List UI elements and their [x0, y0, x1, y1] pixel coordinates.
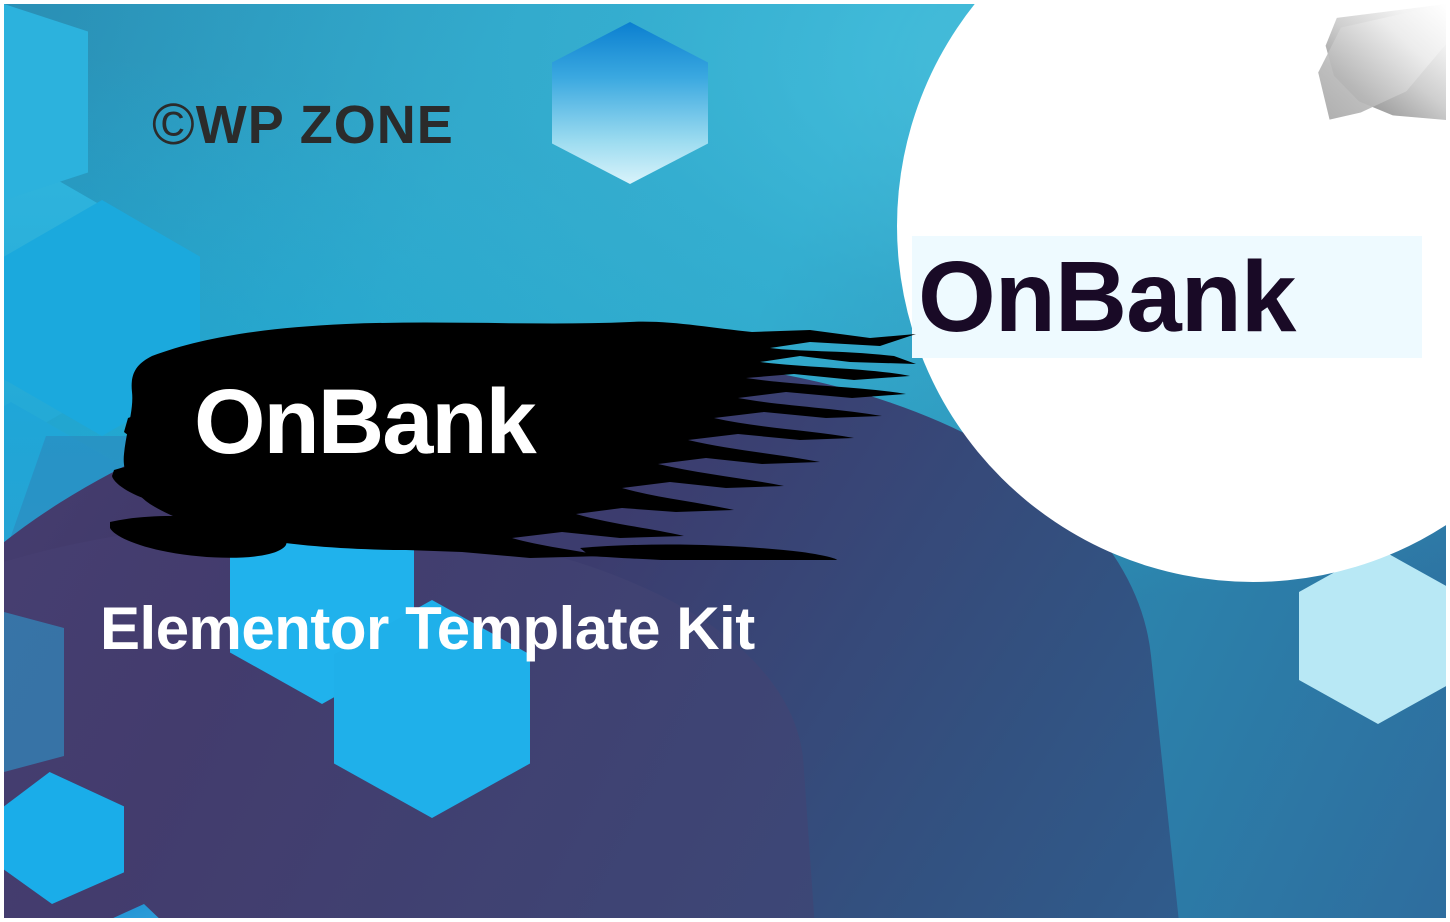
logo-text: OnBank [918, 247, 1295, 347]
hexagon-cube-left-facet-icon [4, 4, 88, 200]
watermark: © WP ZONE [152, 94, 454, 156]
banner-canvas: OnBank OnBank Elementor Template Kit © W… [0, 0, 1450, 922]
page-title: OnBank [194, 376, 535, 468]
copyright-icon: © [152, 96, 196, 154]
template-kit-banner: OnBank OnBank Elementor Template Kit © W… [4, 4, 1446, 918]
logo-plate: OnBank [912, 236, 1422, 358]
hexagon-cyan-mid-3-icon [4, 612, 64, 772]
watermark-label: WP ZONE [196, 94, 454, 156]
page-subtitle: Elementor Template Kit [100, 596, 755, 662]
